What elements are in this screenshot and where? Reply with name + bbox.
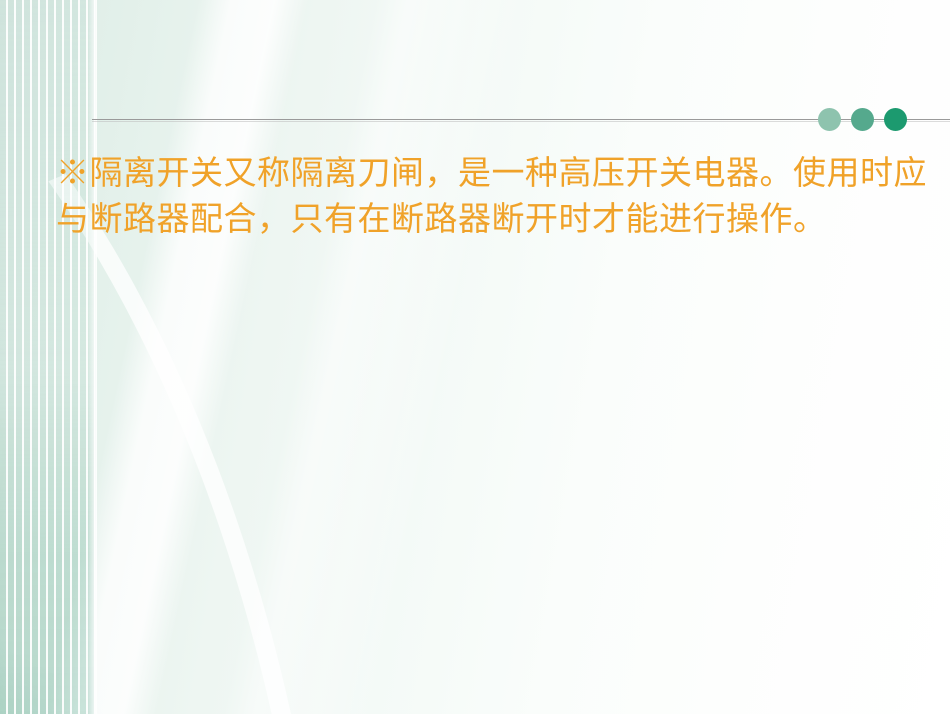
- dot-medium-icon: [851, 108, 874, 131]
- stripe-band-edge-fade: [88, 0, 97, 714]
- dot-dark-icon: [884, 108, 907, 131]
- header-dot-group: [818, 108, 907, 131]
- slide-canvas: ※隔离开关又称隔离刀闸，是一种高压开关电器。使用时应与断路器配合，只有在断路器断…: [0, 0, 950, 714]
- slide-body-text: ※隔离开关又称隔离刀闸，是一种高压开关电器。使用时应与断路器配合，只有在断路器断…: [56, 150, 936, 242]
- stripe-band-lines: [0, 0, 95, 714]
- dot-light-icon: [818, 108, 841, 131]
